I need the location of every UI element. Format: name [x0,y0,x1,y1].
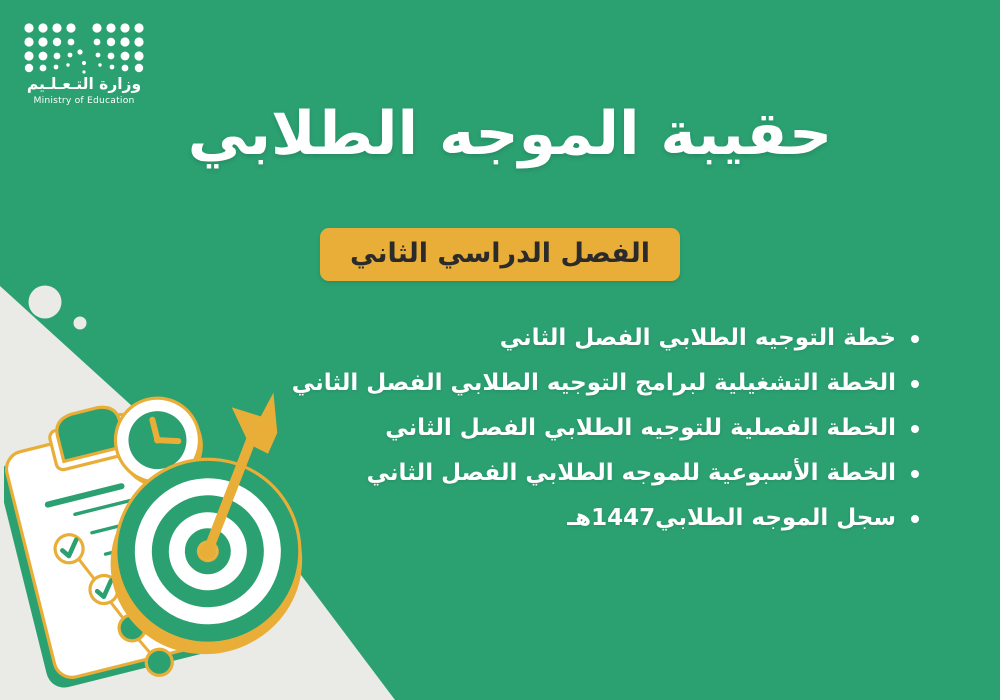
poster-root: وزارة التـعـلـيم Ministry of Education ح… [0,0,1000,700]
decor-circle-large [29,286,62,319]
page-title: حقيبة الموجه الطلابي [140,100,880,169]
ministry-logo-arabic-text: وزارة التـعـلـيم [14,76,154,93]
semester-badge-container: الفصل الدراسي الثاني [0,228,1000,281]
ministry-logo: وزارة التـعـلـيم Ministry of Education [14,22,154,106]
ministry-logo-wordmark: وزارة التـعـلـيم Ministry of Education [14,76,154,108]
decor-circle-small [74,317,87,330]
semester-badge: الفصل الدراسي الثاني [320,228,680,281]
list-item: خطة التوجيه الطلابي الفصل الثاني [182,327,922,350]
clipboard-checklist-clock-target-illustration [4,392,324,692]
ministry-of-education-dots-logo [22,22,146,74]
ministry-logo-english-text: Ministry of Education [14,95,154,108]
